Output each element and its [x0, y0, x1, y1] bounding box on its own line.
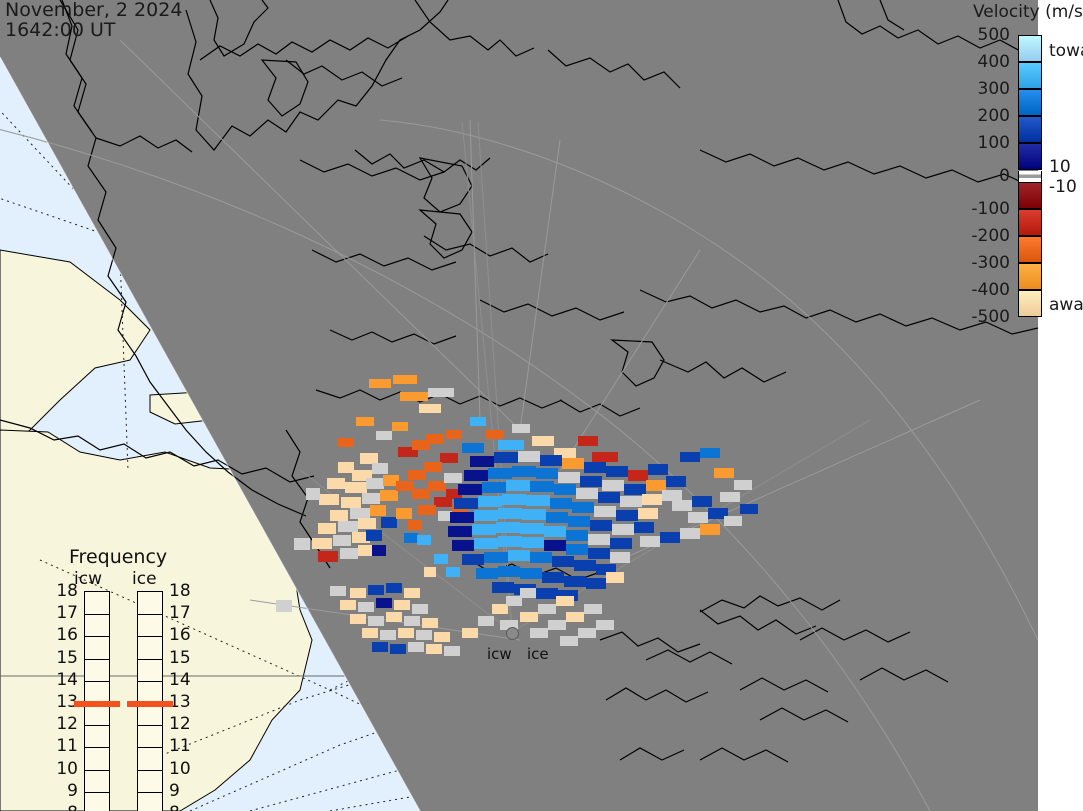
velocity-cell	[506, 596, 522, 606]
colorbar-band	[1018, 89, 1042, 116]
velocity-cell	[544, 540, 566, 551]
velocity-cell	[381, 517, 397, 528]
map-canvas[interactable]: icw ice November, 2 2024 1642:00 UT Freq…	[0, 0, 1038, 811]
velocity-cell	[594, 506, 616, 517]
frequency-scale-label: 9	[67, 781, 78, 801]
velocity-cell	[548, 620, 566, 630]
velocity-legend: Velocity (m/s) 5004003002001000-100-200-…	[957, 0, 1083, 330]
velocity-cell	[464, 470, 488, 481]
velocity-cell	[588, 534, 610, 545]
frequency-scale-label: 12	[169, 714, 191, 734]
velocity-cell	[370, 505, 386, 516]
velocity-cell	[450, 512, 474, 523]
velocity-cell	[356, 417, 374, 426]
velocity-cell	[628, 470, 648, 481]
frequency-tick	[138, 659, 162, 660]
frequency-scale-label: 16	[169, 625, 191, 645]
colorbar-band	[1018, 182, 1042, 209]
velocity-cell	[546, 512, 568, 523]
velocity-cell	[390, 644, 406, 654]
velocity-cell	[369, 379, 391, 388]
radar-site-label-icw: icw	[487, 645, 512, 663]
velocity-cell	[562, 458, 584, 469]
velocity-cell	[566, 530, 588, 541]
velocity-cell	[358, 518, 376, 529]
velocity-cell	[498, 536, 522, 547]
colorbar-band	[1018, 263, 1042, 290]
frequency-tick	[85, 636, 109, 637]
frequency-tick	[85, 792, 109, 793]
colorbar-band	[1018, 62, 1042, 89]
velocity-cell	[340, 548, 358, 559]
velocity-cell	[542, 572, 564, 583]
superdarn-fan-plot: icw ice November, 2 2024 1642:00 UT Freq…	[0, 0, 1083, 811]
velocity-cell	[578, 628, 596, 638]
velocity-cell	[520, 612, 538, 622]
velocity-cell	[358, 602, 374, 612]
frequency-channel-label-ice: ice	[132, 569, 157, 589]
velocity-cell	[492, 604, 508, 614]
velocity-cell	[350, 614, 366, 624]
frequency-marker	[127, 701, 173, 707]
velocity-cell	[462, 554, 484, 565]
velocity-cell	[680, 452, 700, 462]
velocity-cell	[362, 493, 380, 504]
velocity-cell	[590, 520, 612, 531]
velocity-legend-title: Velocity (m/s)	[973, 2, 1083, 22]
velocity-cell	[412, 489, 430, 499]
velocity-cell	[640, 536, 660, 547]
velocity-cell	[512, 424, 530, 433]
velocity-cell	[408, 520, 422, 530]
velocity-cell	[444, 473, 462, 483]
velocity-cell	[440, 453, 458, 463]
velocity-cell	[368, 585, 384, 595]
frequency-tick	[138, 681, 162, 682]
velocity-cell	[522, 537, 544, 548]
velocity-cell	[592, 452, 618, 462]
velocity-cell	[327, 478, 345, 489]
frequency-tick	[85, 659, 109, 660]
velocity-cell	[672, 500, 692, 511]
velocity-cell	[462, 443, 484, 453]
velocity-cell	[386, 583, 402, 593]
velocity-cell	[396, 481, 414, 491]
velocity-cell	[606, 466, 628, 477]
velocity-cell	[616, 510, 638, 521]
velocity-cell	[612, 524, 634, 535]
velocity-cell	[518, 451, 540, 462]
velocity-cell	[446, 567, 460, 577]
velocity-cell	[434, 632, 450, 642]
velocity-cell	[446, 430, 462, 439]
velocity-cell	[602, 480, 624, 491]
velocity-cell	[368, 616, 384, 626]
velocity-cell	[488, 468, 512, 479]
velocity-cell	[642, 494, 662, 505]
frequency-legend-title: Frequency	[69, 546, 167, 568]
velocity-cell	[404, 533, 418, 543]
velocity-cell	[482, 482, 506, 493]
colorbar-tick-label: -400	[971, 280, 1010, 300]
velocity-cell	[662, 490, 682, 501]
velocity-cell	[646, 480, 666, 491]
velocity-cell	[588, 548, 610, 559]
velocity-cell	[404, 616, 420, 626]
velocity-cell	[606, 572, 624, 583]
velocity-cell	[576, 488, 598, 499]
velocity-cell	[564, 576, 586, 587]
frequency-scale-label: 10	[56, 759, 78, 779]
velocity-cell	[610, 552, 630, 563]
velocity-cell	[372, 642, 388, 652]
velocity-cell	[476, 568, 498, 579]
velocity-cell	[620, 496, 642, 507]
velocity-cell	[552, 556, 574, 567]
colorbar-band	[1018, 143, 1042, 170]
velocity-cell	[350, 588, 366, 598]
frequency-marker	[74, 701, 120, 707]
velocity-cell	[408, 642, 424, 652]
velocity-cell	[312, 538, 332, 549]
colorbar-tick-label: -200	[971, 226, 1010, 246]
frequency-scale-label: 16	[56, 625, 78, 645]
velocity-cell	[393, 375, 417, 384]
colorbar-band	[1018, 209, 1042, 236]
frequency-scale-label: 15	[169, 648, 191, 668]
velocity-cell	[478, 616, 494, 626]
frequency-scale-label: 18	[56, 581, 78, 601]
velocity-cell	[558, 472, 580, 483]
velocity-cell	[700, 448, 720, 458]
velocity-cell	[572, 502, 594, 513]
velocity-cell	[462, 628, 478, 638]
colorbar-zero-band	[1018, 171, 1042, 182]
frequency-tick	[85, 614, 109, 615]
velocity-cell	[556, 596, 574, 606]
velocity-cell	[470, 417, 486, 426]
velocity-cell	[452, 540, 474, 551]
velocity-cell	[338, 462, 354, 473]
velocity-cell	[400, 392, 428, 401]
velocity-cell	[394, 600, 410, 610]
velocity-cell	[492, 582, 514, 593]
velocity-cell	[424, 567, 436, 577]
velocity-cell	[434, 554, 448, 564]
velocity-cell	[396, 508, 412, 519]
colorbar-lower-threshold: -10	[1049, 177, 1077, 197]
velocity-cell	[333, 535, 351, 546]
velocity-cell	[318, 551, 338, 562]
frequency-scale-label: 17	[169, 603, 191, 623]
frequency-scale-label: 14	[169, 670, 191, 690]
velocity-cell	[341, 497, 361, 508]
velocity-cell	[586, 578, 606, 589]
velocity-cell	[520, 568, 542, 579]
colorbar-tick-label: -100	[971, 199, 1010, 219]
velocity-cell	[454, 498, 478, 509]
colorbar-tick-label: 0	[999, 166, 1010, 186]
velocity-cell	[318, 523, 336, 534]
velocity-cell	[419, 404, 441, 413]
frequency-tick	[85, 725, 109, 726]
velocity-cell	[714, 468, 734, 478]
velocity-cell	[638, 508, 658, 519]
velocity-cell	[422, 618, 438, 628]
velocity-cell	[566, 544, 588, 555]
velocity-cell	[520, 588, 536, 598]
velocity-cell	[276, 600, 292, 612]
velocity-cell	[568, 516, 590, 527]
frequency-scale-label: 15	[56, 648, 78, 668]
frequency-scale-label: 14	[56, 670, 78, 690]
velocity-cell	[660, 532, 680, 543]
frequency-tick	[138, 725, 162, 726]
velocity-cell	[380, 490, 398, 501]
velocity-cell	[734, 480, 752, 490]
velocity-cell	[345, 482, 367, 493]
velocity-cell	[428, 388, 454, 397]
velocity-cell	[338, 521, 358, 532]
velocity-cell	[458, 484, 482, 495]
frequency-scale-label: 18	[169, 581, 191, 601]
velocity-cell	[486, 430, 504, 439]
plot-date: November, 2 2024	[5, 1, 182, 20]
frequency-tick	[85, 681, 109, 682]
frequency-scale-label: 8	[169, 803, 180, 811]
colorbar-toward-label: toward	[1049, 41, 1083, 61]
velocity-cell	[330, 586, 346, 596]
velocity-cell	[404, 588, 420, 598]
velocity-cell	[392, 422, 408, 431]
colorbar-band	[1018, 35, 1042, 62]
velocity-cell	[520, 523, 544, 534]
velocity-cell	[550, 498, 572, 509]
frequency-tick	[85, 770, 109, 771]
velocity-cell	[474, 538, 498, 549]
timestamp-block: November, 2 2024 1642:00 UT	[5, 1, 182, 40]
velocity-cell	[380, 630, 396, 640]
frequency-scale-label: 12	[56, 714, 78, 734]
velocity-cell	[386, 612, 402, 622]
velocity-cell	[496, 522, 520, 533]
velocity-cell	[426, 644, 442, 654]
velocity-cell	[340, 600, 356, 610]
velocity-cell	[294, 538, 310, 550]
frequency-legend: Frequency icw ice 1818171716161515141413…	[52, 546, 202, 796]
plot-time: 1642:00 UT	[5, 21, 182, 40]
velocity-cell	[544, 526, 566, 537]
velocity-cell	[424, 462, 442, 472]
colorbar-band	[1018, 290, 1042, 317]
velocity-cell	[506, 480, 530, 491]
velocity-cell	[532, 436, 554, 446]
velocity-cell	[444, 646, 460, 656]
velocity-cell	[584, 462, 606, 473]
velocity-cell	[472, 524, 496, 535]
colorbar-upper-threshold: 10	[1049, 157, 1071, 177]
colorbar-tick-label: 200	[978, 106, 1010, 126]
colorbar-tick-label: 500	[978, 25, 1010, 45]
velocity-cell	[502, 494, 526, 505]
velocity-cell	[578, 436, 598, 446]
velocity-cell	[360, 453, 378, 464]
colorbar-tick-label: 400	[978, 52, 1010, 72]
velocity-cell	[720, 492, 740, 502]
velocity-cell	[536, 468, 558, 479]
velocity-cell	[536, 588, 558, 599]
colorbar-tick-label: 100	[978, 133, 1010, 153]
colorbar-tick-label: 300	[978, 79, 1010, 99]
velocity-cell	[319, 494, 339, 505]
velocity-cell	[478, 496, 502, 507]
velocity-cell	[666, 476, 686, 487]
velocity-cell	[484, 552, 508, 563]
velocity-cell	[498, 566, 520, 577]
frequency-tick	[138, 747, 162, 748]
velocity-cell	[418, 505, 436, 515]
velocity-cell	[538, 604, 556, 614]
velocity-cell	[426, 434, 444, 444]
velocity-cell	[584, 604, 602, 614]
velocity-cell	[416, 630, 432, 640]
velocity-cell	[634, 522, 654, 533]
velocity-cell	[470, 456, 494, 467]
velocity-cell	[494, 452, 518, 463]
velocity-cell	[700, 524, 720, 535]
colorbar-band	[1018, 236, 1042, 263]
frequency-scale-label: 8	[67, 803, 78, 811]
velocity-cell	[376, 431, 392, 440]
velocity-cell	[412, 604, 428, 614]
frequency-tick	[138, 770, 162, 771]
radar-site-label-ice: ice	[527, 645, 549, 663]
velocity-cell	[372, 463, 388, 474]
velocity-cell	[530, 481, 554, 492]
frequency-scale-label: 11	[56, 736, 78, 756]
colorbar-tick-label: -300	[971, 253, 1010, 273]
velocity-cell	[648, 464, 668, 475]
velocity-cell	[596, 620, 614, 630]
velocity-cell	[366, 530, 382, 541]
velocity-cell	[376, 598, 392, 608]
velocity-cell	[574, 560, 596, 571]
velocity-cell	[417, 535, 431, 545]
velocity-cell	[306, 488, 320, 500]
frequency-scale-label: 11	[169, 736, 191, 756]
velocity-cell	[688, 512, 708, 523]
velocity-cell	[522, 509, 546, 520]
velocity-cell	[448, 526, 472, 537]
velocity-cell	[554, 484, 576, 495]
velocity-cell	[624, 484, 646, 495]
velocity-cell	[680, 528, 700, 539]
velocity-colorbar	[1018, 35, 1042, 317]
velocity-cell	[408, 470, 426, 480]
frequency-scale-label: 17	[56, 603, 78, 623]
velocity-cell	[530, 552, 552, 563]
velocity-cell	[566, 612, 584, 622]
velocity-cell	[610, 538, 632, 549]
velocity-cell	[474, 510, 498, 521]
velocity-cell	[692, 496, 712, 507]
velocity-cell	[526, 495, 550, 506]
velocity-cell	[560, 636, 578, 646]
velocity-cell	[338, 438, 354, 447]
frequency-tick	[138, 792, 162, 793]
velocity-cell	[372, 545, 386, 556]
radar-site-marker	[506, 627, 519, 640]
velocity-cell	[498, 440, 524, 450]
colorbar-away-label: away	[1049, 295, 1083, 315]
velocity-cell	[330, 510, 348, 521]
velocity-cell	[530, 628, 548, 638]
frequency-tick	[138, 636, 162, 637]
colorbar-tick-label: -500	[971, 307, 1010, 327]
colorbar-band	[1018, 116, 1042, 143]
velocity-cell	[540, 455, 562, 466]
velocity-cell	[498, 508, 522, 519]
frequency-scale-label: 9	[169, 781, 180, 801]
frequency-tick	[138, 614, 162, 615]
velocity-cell	[508, 550, 530, 561]
velocity-cell	[512, 466, 536, 477]
velocity-cell	[428, 481, 446, 491]
velocity-cell	[350, 508, 370, 519]
frequency-scale-label: 10	[169, 759, 191, 779]
velocity-cell	[398, 628, 414, 638]
velocity-cell	[740, 504, 758, 514]
velocity-cell	[366, 478, 384, 489]
frequency-tick	[85, 747, 109, 748]
frequency-channel-label-icw: icw	[74, 569, 102, 589]
velocity-cell	[362, 628, 378, 638]
velocity-cell	[598, 492, 620, 503]
velocity-cell	[580, 476, 602, 487]
velocity-cell	[724, 516, 742, 526]
